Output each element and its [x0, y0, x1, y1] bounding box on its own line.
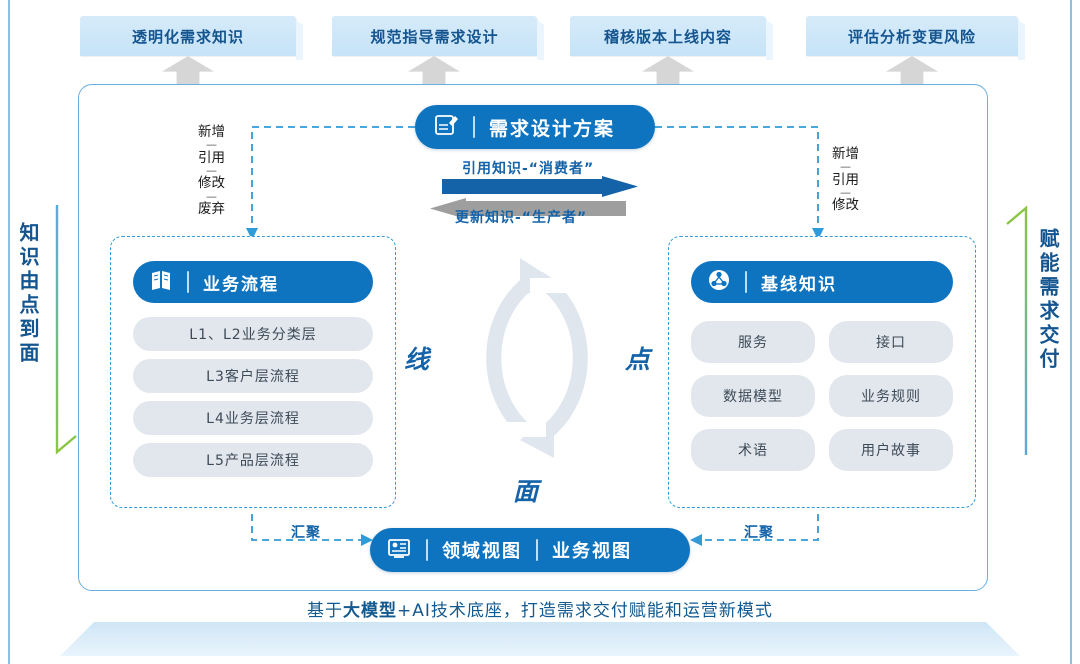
- cycle-arrows-icon: [458, 250, 618, 465]
- tag-item[interactable]: 数据模型: [691, 375, 815, 417]
- cycle-label-dot: 点: [625, 340, 650, 376]
- tag-item[interactable]: L4业务层流程: [133, 401, 373, 435]
- domain-view-label: 领域视图: [442, 537, 522, 563]
- stack-item: 废弃: [198, 202, 225, 216]
- stack-item: 新增: [832, 147, 859, 161]
- stack-item: 修改: [198, 176, 225, 190]
- baseline-knowledge-header[interactable]: 基线知识: [691, 261, 953, 303]
- view-bar[interactable]: 领域视图 业务视图: [370, 528, 690, 572]
- cycle-label-line: 线: [404, 340, 429, 376]
- right-rail: [1070, 0, 1072, 664]
- consume-knowledge-label: 引用知识-“消费者”: [462, 158, 594, 178]
- footer-strong: 大模型: [343, 601, 397, 621]
- left-rail: [8, 0, 10, 664]
- banner-label: 评估分析变更风险: [848, 26, 976, 47]
- process-book-icon: [149, 268, 173, 296]
- banner-transparent-knowledge[interactable]: 透明化需求知识: [80, 16, 296, 56]
- stack-divider: —: [840, 161, 851, 173]
- stack-divider: —: [206, 139, 217, 151]
- tag-item[interactable]: 业务规则: [829, 375, 953, 417]
- right-action-stack: 新增 — 引用 — 修改: [832, 146, 859, 214]
- baseline-knowledge-title: 基线知识: [761, 270, 837, 295]
- stack-item: 修改: [832, 198, 859, 212]
- banner-audit-release[interactable]: 稽核版本上线内容: [570, 16, 766, 56]
- tag-item[interactable]: L1、L2业务分类层: [133, 317, 373, 351]
- knowledge-node-icon: [707, 268, 731, 296]
- stack-item: 引用: [832, 173, 859, 187]
- document-edit-icon: [433, 112, 459, 142]
- requirement-design-label: 需求设计方案: [489, 114, 615, 141]
- tag-item[interactable]: 服务: [691, 321, 815, 363]
- divider: [473, 116, 475, 138]
- stack-item: 新增: [198, 125, 225, 139]
- view-card-icon: [386, 535, 412, 565]
- tag-item[interactable]: 用户故事: [829, 429, 953, 471]
- baseline-knowledge-box: 基线知识 服务 接口 数据模型 业务规则 术语 用户故事: [668, 236, 976, 508]
- tag-item[interactable]: L3客户层流程: [133, 359, 373, 393]
- business-process-box: 业务流程 L1、L2业务分类层 L3客户层流程 L4业务层流程 L5产品层流程: [110, 236, 396, 508]
- divider: [536, 539, 538, 561]
- side-label-right: 赋能需求交付: [1034, 228, 1063, 372]
- tag-item[interactable]: 接口: [829, 321, 953, 363]
- requirement-design-header[interactable]: 需求设计方案: [415, 105, 655, 149]
- footer-prefix: 基于: [307, 601, 343, 621]
- baseline-knowledge-tag-list: 服务 接口 数据模型 业务规则 术语 用户故事: [691, 321, 953, 471]
- produce-knowledge-label: 更新知识-“生产者”: [455, 207, 587, 227]
- stack-item: 引用: [198, 151, 225, 165]
- tag-item[interactable]: L5产品层流程: [133, 443, 373, 477]
- cycle-label-face: 面: [513, 472, 538, 508]
- banner-standard-design[interactable]: 规范指导需求设计: [332, 16, 537, 56]
- consume-arrow-icon: [442, 176, 638, 197]
- converge-label-left: 汇聚: [291, 522, 321, 542]
- diagram-canvas: 透明化需求知识 规范指导需求设计 稽核版本上线内容 评估分析变更风险 需求设计方…: [0, 0, 1080, 664]
- side-label-left: 知识由点到面: [14, 222, 43, 366]
- base-trapezoid: [60, 622, 1020, 656]
- business-process-tag-list: L1、L2业务分类层 L3客户层流程 L4业务层流程 L5产品层流程: [133, 317, 373, 477]
- banner-label: 规范指导需求设计: [370, 26, 498, 47]
- left-action-stack: 新增 — 引用 — 修改 — 废弃: [198, 124, 225, 217]
- divider: [426, 539, 428, 561]
- business-process-title: 业务流程: [203, 270, 279, 295]
- business-process-header[interactable]: 业务流程: [133, 261, 373, 303]
- banner-assess-risk[interactable]: 评估分析变更风险: [806, 16, 1018, 56]
- banner-label: 透明化需求知识: [132, 26, 244, 47]
- business-view-label: 业务视图: [552, 537, 632, 563]
- divider: [187, 271, 189, 293]
- banner-label: 稽核版本上线内容: [604, 26, 732, 47]
- footer-suffix: +AI技术底座，打造需求交付赋能和运营新模式: [397, 601, 773, 621]
- converge-label-right: 汇聚: [744, 522, 774, 542]
- tag-item[interactable]: 术语: [691, 429, 815, 471]
- divider: [745, 271, 747, 293]
- footer-tagline: 基于大模型+AI技术底座，打造需求交付赋能和运营新模式: [0, 596, 1080, 621]
